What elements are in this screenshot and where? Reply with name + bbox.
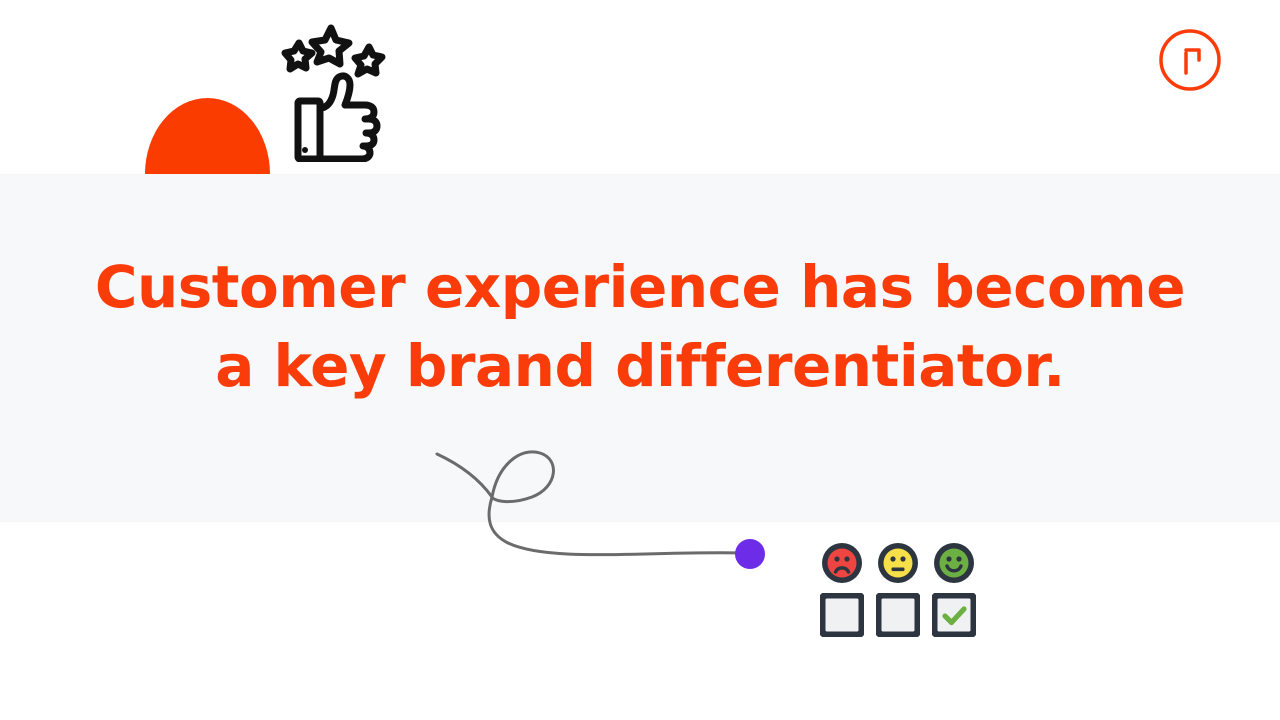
brand-logo[interactable]	[1157, 27, 1223, 93]
orange-semicircle-decoration	[145, 98, 270, 174]
rating-checkbox-neutral[interactable]	[876, 593, 920, 637]
satisfaction-rating-widget[interactable]	[820, 541, 990, 651]
rating-checkbox-row	[820, 593, 990, 637]
headline-line-1: Customer experience has become	[0, 248, 1280, 327]
rating-faces-row	[820, 541, 990, 585]
headline-line-2: a key brand differentiator.	[0, 327, 1280, 406]
rating-face-neutral[interactable]	[876, 541, 920, 585]
looping-curve-decoration	[420, 425, 780, 575]
thumbs-up-with-stars-icon	[265, 22, 405, 162]
slide-canvas: Customer experience has become a key bra…	[0, 0, 1280, 720]
rating-face-happy[interactable]	[932, 541, 976, 585]
rating-face-sad[interactable]	[820, 541, 864, 585]
rating-checkbox-happy[interactable]	[932, 593, 976, 637]
purple-dot-decoration	[735, 539, 765, 569]
rating-checkbox-sad[interactable]	[820, 593, 864, 637]
page-title: Customer experience has become a key bra…	[0, 248, 1280, 406]
